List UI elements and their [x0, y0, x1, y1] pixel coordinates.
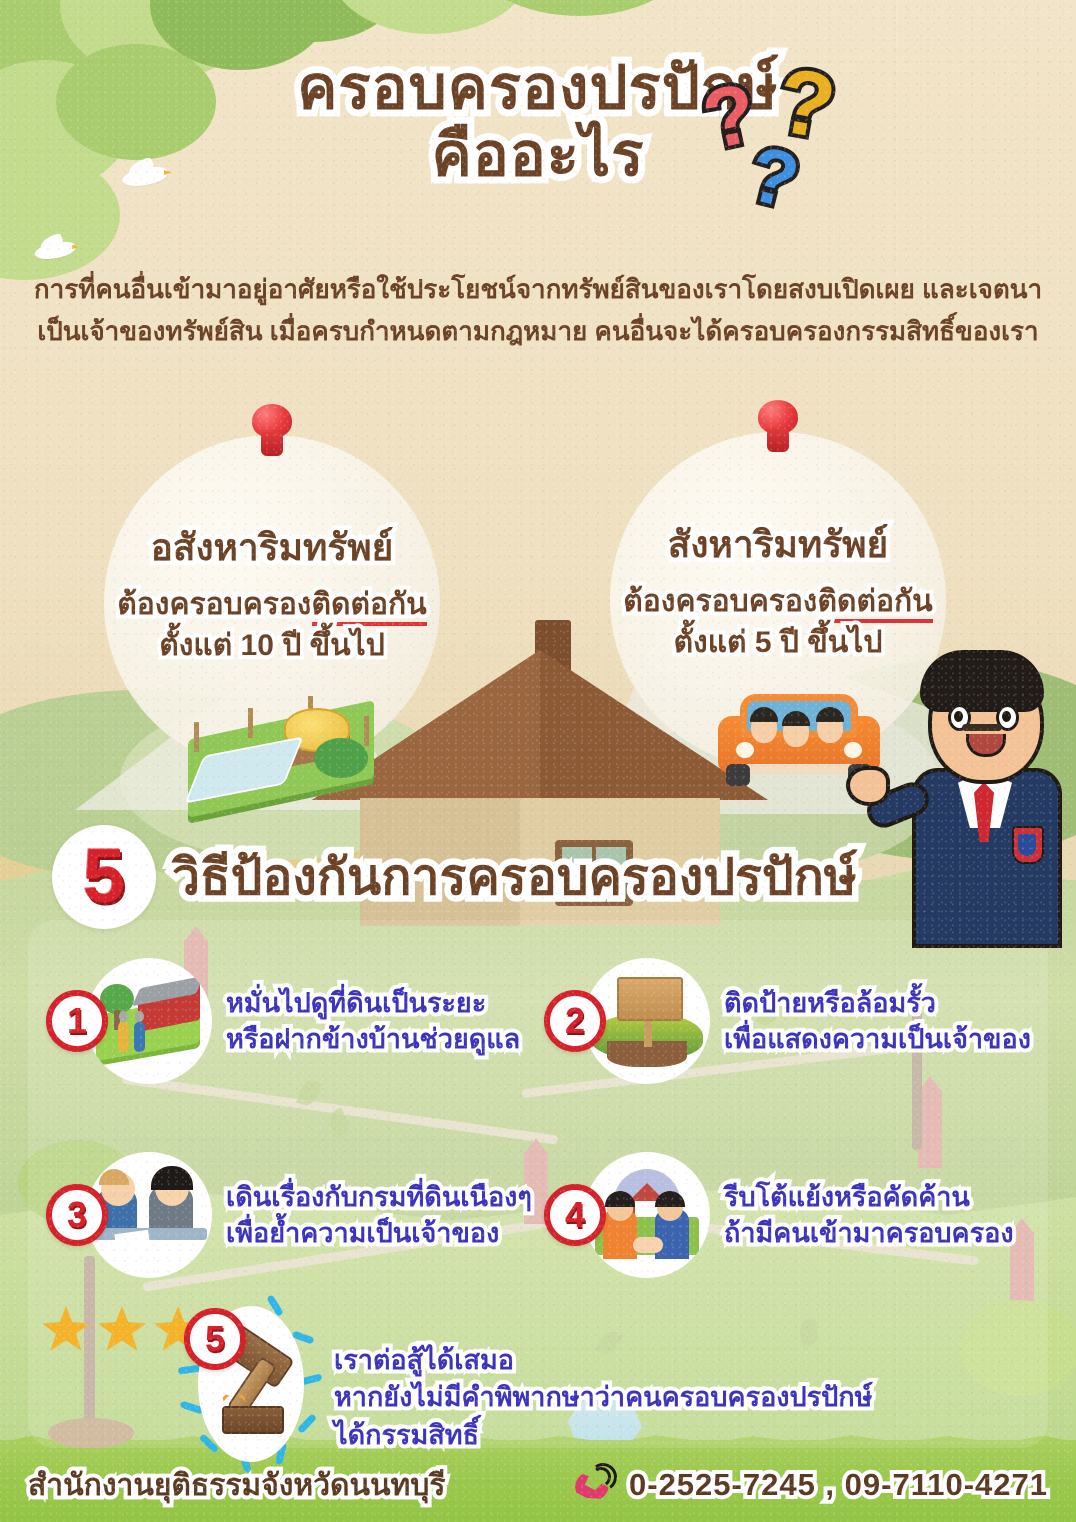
tip-item-1: 1 หมั่นไปดูที่ดินเป็นระยะ หรือฝากข้างบ้า… [46, 958, 520, 1084]
stars-group [42, 1306, 202, 1352]
organization-name: สำนักงานยุติธรรมจังหวัดนนทบุรี [28, 1462, 445, 1509]
condition-prefix: ต้องครอบครอง [117, 588, 311, 621]
tip-text: เราต่อสู้ได้เสมอ หากยังไม่มีคำพิพากษาว่า… [334, 1342, 872, 1454]
tip-item-2: 2 ติดป้ายหรือล้อมรั้ว เพื่อแสดงความเป็นเ… [544, 958, 1031, 1084]
condition-underlined: ติดต่อกัน [818, 585, 933, 623]
farm-land-icon [188, 686, 378, 806]
tip-text: ติดป้ายหรือล้อมรั้ว เพื่อแสดงความเป็นเจ้… [724, 985, 1031, 1057]
tip-number: 5 [205, 1321, 225, 1357]
phone-number: 0-2525-7245 , 09-7110-4271 [629, 1467, 1048, 1503]
tip-text: รีบโต้แย้งหรือคัดค้าน ถ้ามีคนเข้ามาครอบค… [724, 1179, 1014, 1251]
condition-prefix: ต้องครอบครอง [623, 585, 817, 618]
title-line-2: คืออะไร [0, 121, 1076, 188]
property-title: สังหาริมทรัพย์ [568, 515, 988, 574]
tip-number-badge: 5 [184, 1308, 246, 1370]
tip-number-badge: 2 [544, 990, 606, 1052]
title-line-1: ครอบครองปรปักษ์ [0, 56, 1076, 121]
section-title: วิธีป้องกันการครอบครองปรปักษ์ [172, 838, 857, 917]
contact-group: 0-2525-7245 , 09-7110-4271 [575, 1465, 1048, 1505]
property-condition-line1: ต้องครอบครองติดต่อกัน [62, 585, 482, 626]
infographic-poster: ครอบครองปรปักษ์ คืออะไร ? ? ? การที่คนอื… [0, 0, 1076, 1522]
section-number: 5 [83, 839, 125, 915]
property-text-immovable: อสังหาริมทรัพย์ ต้องครอบครองติดต่อกัน ตั… [62, 518, 482, 666]
footer-bar: สำนักงานยุติธรรมจังหวัดนนทบุรี 0-2525-72… [0, 1448, 1076, 1522]
property-text-movable: สังหาริมทรัพย์ ต้องครอบครองติดต่อกัน ตั้… [568, 515, 988, 663]
pushpin-icon [758, 400, 798, 456]
tip-number-badge: 3 [46, 1184, 108, 1246]
star-icon [98, 1306, 146, 1352]
tip-number: 2 [565, 1003, 585, 1039]
dove-icon [34, 243, 75, 258]
star-icon [42, 1306, 90, 1352]
section-number-badge: 5 [52, 825, 156, 929]
tip-text: เดินเรื่องกับกรมที่ดินเนืองๆ เพื่อย้ำควา… [226, 1179, 532, 1251]
tip-number: 1 [67, 1003, 87, 1039]
tip-text: หมั่นไปดูที่ดินเป็นระยะ หรือฝากข้างบ้านช… [226, 985, 520, 1057]
tip-item-3: 3 เดินเรื่องกับกรมที่ดินเนืองๆ เพื่อย้ำค… [46, 1152, 532, 1278]
lead-paragraph: การที่คนอื่นเข้ามาอยู่อาศัยหรือใช้ประโยช… [0, 268, 1076, 352]
tip-number: 3 [67, 1197, 87, 1233]
question-mark-red-icon: ? [696, 70, 764, 163]
tip-item-4: 4 รีบโต้แย้งหรือคัดค้าน ถ้ามีคนเข้ามาครอ… [544, 1152, 1014, 1278]
property-condition-line2: ตั้งแต่ 10 ปี ขึ้นไป [62, 626, 482, 667]
tip-item-5: 5 เราต่อสู้ได้เสมอ หากยังไม่มีคำพิพากษาว… [184, 1300, 872, 1468]
tip-number-badge: 1 [46, 990, 108, 1052]
condition-underlined: ติดต่อกัน [312, 588, 427, 626]
question-marks-group: ? ? ? [704, 58, 914, 223]
property-condition-line1: ต้องครอบครองติดต่อกัน [568, 582, 988, 623]
phone-ringing-icon [575, 1465, 617, 1505]
tip-number: 4 [565, 1197, 585, 1233]
property-title: อสังหาริมทรัพย์ [62, 518, 482, 577]
tip-number-badge: 4 [544, 1184, 606, 1246]
section-heading: 5 วิธีป้องกันการครอบครองปรปักษ์ [52, 822, 1042, 932]
page-title: ครอบครองปรปักษ์ คืออะไร [0, 56, 1076, 188]
pushpin-icon [252, 404, 292, 460]
